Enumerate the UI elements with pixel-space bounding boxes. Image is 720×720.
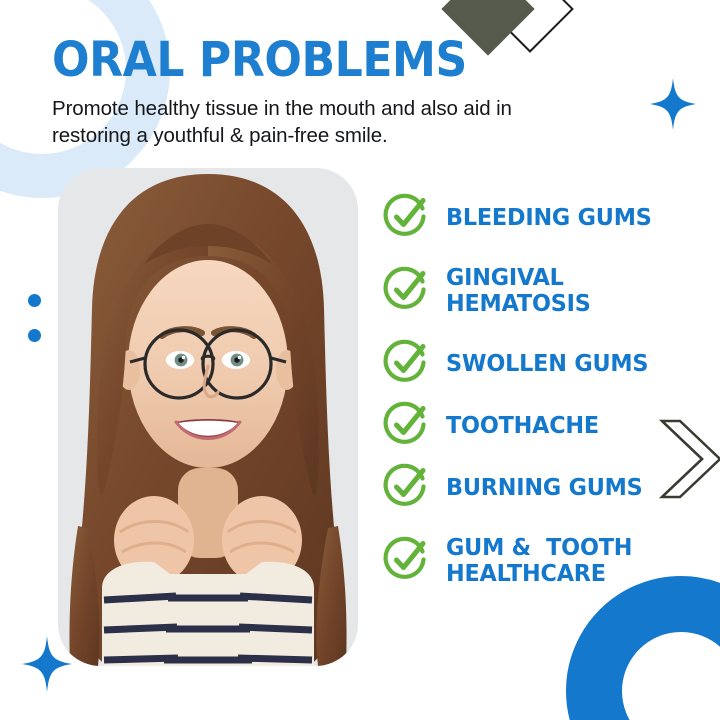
check-circle-icon: [382, 401, 430, 449]
list-item-label: TOOTHACHE: [446, 412, 599, 438]
check-circle-icon: [382, 536, 430, 584]
list-item-label: SWOLLEN GUMS: [446, 350, 648, 376]
check-circle-icon: [382, 339, 430, 387]
check-circle-icon: [382, 193, 430, 241]
dot-upper-decoration: [28, 294, 41, 307]
list-item[interactable]: TOOTHACHE: [382, 394, 682, 456]
list-item[interactable]: GUM & TOOTH HEALTHCARE: [382, 518, 682, 602]
check-circle-icon: [382, 266, 430, 314]
list-item[interactable]: BURNING GUMS: [382, 456, 682, 518]
check-circle-icon: [382, 463, 430, 511]
list-item[interactable]: GINGIVAL HEMATOSIS: [382, 248, 682, 332]
oral-problems-poster: ORAL PROBLEMS Promote healthy tissue in …: [0, 0, 720, 720]
page-subtitle: Promote healthy tissue in the mouth and …: [52, 95, 572, 150]
page-title: ORAL PROBLEMS: [52, 36, 567, 85]
dot-lower-decoration: [28, 329, 41, 342]
portrait-illustration: [58, 168, 358, 666]
sparkle-top-right-icon: [650, 78, 696, 130]
list-item-label: BURNING GUMS: [446, 474, 643, 500]
list-item[interactable]: BLEEDING GUMS: [382, 186, 682, 248]
symptom-checklist: BLEEDING GUMS GINGIVAL HEMATOSIS SWOLLEN…: [382, 186, 682, 602]
list-item-label: GUM & TOOTH HEALTHCARE: [446, 534, 632, 587]
list-item-label: GINGIVAL HEMATOSIS: [446, 264, 591, 317]
list-item-label: BLEEDING GUMS: [446, 204, 652, 230]
list-item[interactable]: SWOLLEN GUMS: [382, 332, 682, 394]
portrait-photo: [58, 168, 358, 666]
poster-header: ORAL PROBLEMS Promote healthy tissue in …: [52, 36, 612, 149]
